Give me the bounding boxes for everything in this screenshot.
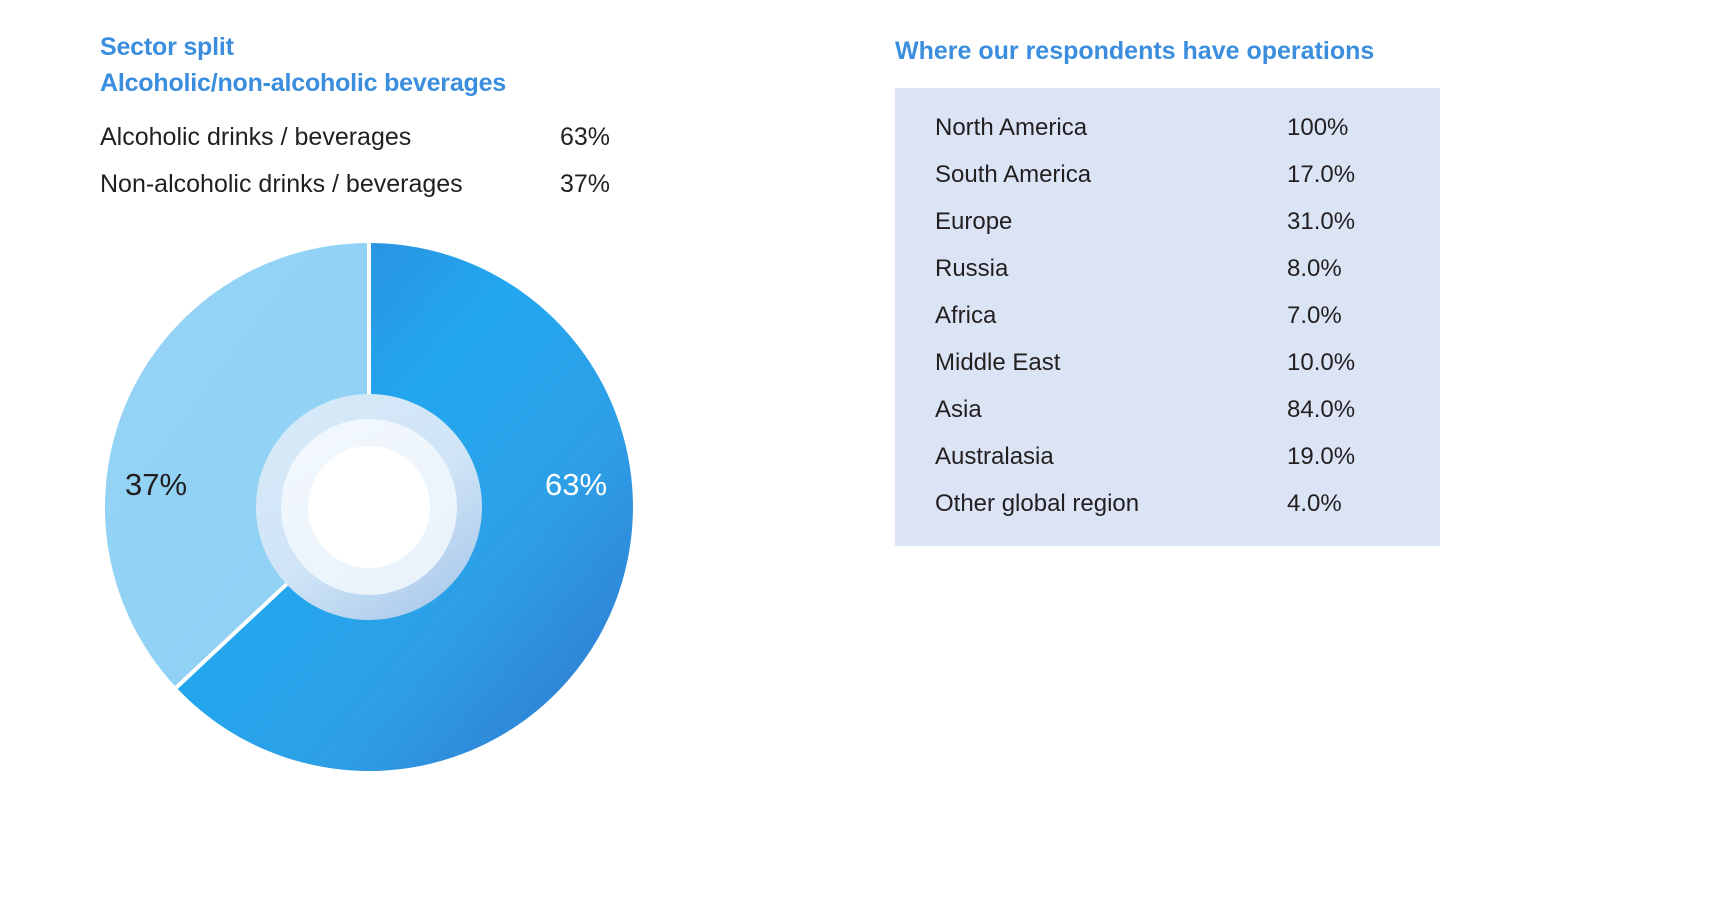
region-value: 19.0% (1287, 445, 1392, 469)
region-value: 17.0% (1287, 163, 1392, 187)
sector-split-panel: Sector split Alcoholic/non-alcoholic bev… (100, 30, 660, 219)
table-row: Middle East 10.0% (935, 351, 1392, 375)
region-name: South America (935, 163, 1091, 187)
list-item: Alcoholic drinks / beverages 63% (100, 125, 610, 150)
region-name: Europe (935, 210, 1012, 234)
operations-panel: Where our respondents have operations No… (895, 36, 1445, 546)
legend-label: Alcoholic drinks / beverages (100, 125, 411, 150)
legend-value: 37% (538, 172, 610, 197)
region-name: Asia (935, 398, 982, 422)
table-row: South America 17.0% (935, 163, 1392, 187)
region-name: Australasia (935, 445, 1054, 469)
region-name: Middle East (935, 351, 1060, 375)
region-name: Other global region (935, 492, 1139, 516)
legend-value: 63% (538, 125, 610, 150)
donut-svg (105, 243, 633, 771)
table-row: North America 100% (935, 116, 1392, 140)
donut-hole (308, 446, 430, 568)
region-value: 10.0% (1287, 351, 1392, 375)
sector-legend: Alcoholic drinks / beverages 63% Non-alc… (100, 125, 610, 197)
section-title-line1: Sector split (100, 30, 660, 66)
region-name: North America (935, 116, 1087, 140)
table-row: Australasia 19.0% (935, 445, 1392, 469)
slice-label-non-alcoholic: 37% (125, 469, 187, 500)
region-value: 7.0% (1287, 304, 1392, 328)
list-item: Non-alcoholic drinks / beverages 37% (100, 172, 610, 197)
regions-table: North America 100% South America 17.0% E… (895, 88, 1440, 546)
region-value: 31.0% (1287, 210, 1392, 234)
page-title: Sector split Alcoholic/non-alcoholic bev… (100, 30, 660, 101)
region-value: 4.0% (1287, 492, 1392, 516)
operations-title: Where our respondents have operations (895, 36, 1445, 66)
legend-label: Non-alcoholic drinks / beverages (100, 172, 463, 197)
table-row: Asia 84.0% (935, 398, 1392, 422)
region-value: 8.0% (1287, 257, 1392, 281)
region-value: 100% (1287, 116, 1392, 140)
infographic-page: Sector split Alcoholic/non-alcoholic bev… (0, 0, 1718, 900)
slice-label-alcoholic: 63% (545, 469, 607, 500)
sector-split-donut-chart: 37% 63% (105, 243, 633, 771)
section-title-line2: Alcoholic/non-alcoholic beverages (100, 66, 660, 102)
region-name: Russia (935, 257, 1008, 281)
table-row: Africa 7.0% (935, 304, 1392, 328)
table-row: Russia 8.0% (935, 257, 1392, 281)
table-row: Europe 31.0% (935, 210, 1392, 234)
region-value: 84.0% (1287, 398, 1392, 422)
region-name: Africa (935, 304, 996, 328)
table-row: Other global region 4.0% (935, 492, 1392, 516)
